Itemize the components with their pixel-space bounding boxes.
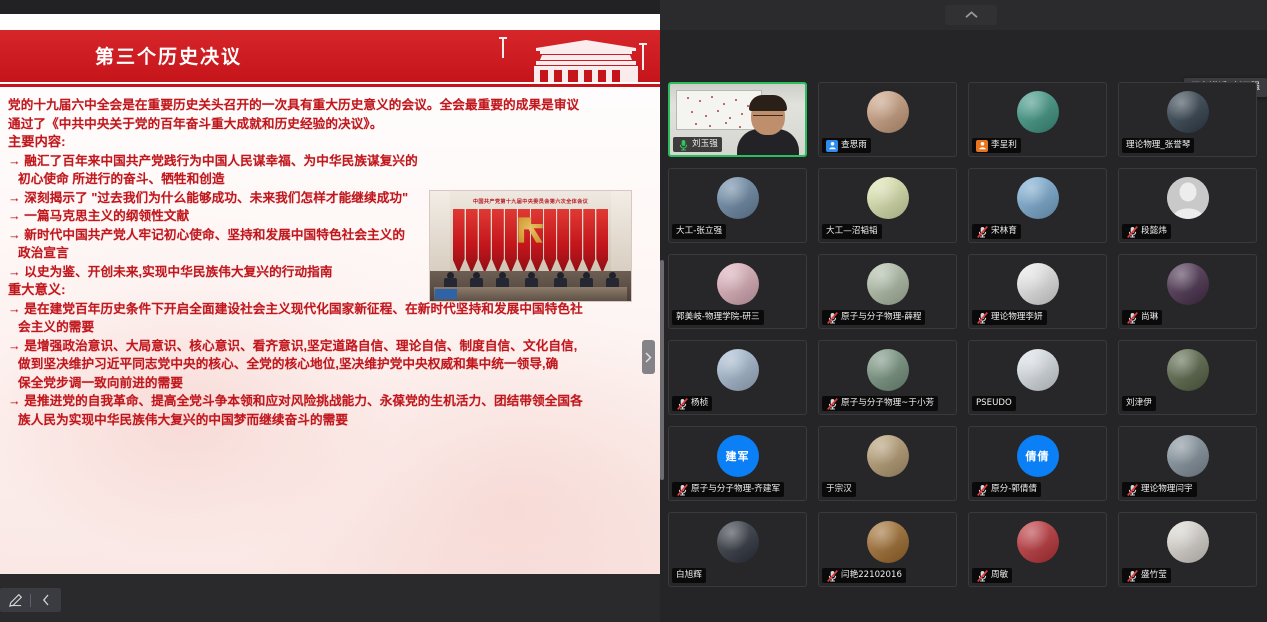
avatar: 倩倩: [1017, 435, 1059, 477]
participant-tile[interactable]: 段懿炜: [1118, 168, 1257, 243]
avatar: [1017, 349, 1059, 391]
participant-name-chip: 原子与分子物理-薛程: [822, 310, 925, 325]
slide-body-line: 党的十九届六中全会是在重要历史关头召开的一次具有重大历史意义的会议。全会最重要的…: [8, 96, 652, 115]
slide-body-line: 初心使命 所进行的奋斗、牺牲和创造: [8, 170, 652, 189]
participant-name-chip: 盛竹莹: [1122, 568, 1171, 583]
whiteboard-mark: [699, 100, 701, 102]
participant-name: 原分-郭倩倩: [991, 482, 1037, 497]
slide-body-line: → 融汇了百年来中国共产党践行为中国人民谋幸福、为中华民族谋复兴的: [8, 152, 652, 171]
avatar: [867, 521, 909, 563]
participant-name: 段懿炜: [1141, 224, 1167, 239]
whiteboard-mark: [725, 122, 727, 124]
cohost-badge-icon: [976, 140, 988, 152]
participant-tile[interactable]: 建军原子与分子物理-齐建军: [668, 426, 807, 501]
participant-name-chip: 白旭辉: [672, 568, 706, 583]
participant-tile[interactable]: 理论物理_张誉琴: [1118, 82, 1257, 157]
slide-body-line: 会主义的需要: [8, 318, 652, 337]
participant-tile[interactable]: 倩倩原分-郭倩倩: [968, 426, 1107, 501]
avatar: 建军: [717, 435, 759, 477]
participant-name-chip: 郭美岐-物理学院-研三: [672, 310, 764, 325]
avatar: [867, 263, 909, 305]
annotate-pen-button[interactable]: [0, 588, 30, 612]
participant-name-chip: 原子与分子物理-齐建军: [672, 482, 784, 497]
participant-name: 尚琳: [1141, 310, 1158, 325]
microphone-off-icon: [1126, 484, 1138, 496]
chevron-left-icon: [42, 594, 50, 606]
avatar: [1017, 263, 1059, 305]
participant-name: PSEUDO: [976, 396, 1012, 411]
slide-header-band: 第三个历史决议: [0, 30, 660, 82]
conference-photo-caption: 中国共产党第十九届中央委员会第六次全体会议: [452, 197, 609, 208]
participant-tile[interactable]: 理论物理闫宇: [1118, 426, 1257, 501]
participant-name-chip: 于宗汉: [822, 482, 856, 497]
avatar: [867, 91, 909, 133]
slide-body-line: 通过了《中共中央关于党的百年奋斗重大成就和历史经验的决议》。: [8, 115, 652, 134]
participant-tile[interactable]: 刘玉强: [668, 82, 807, 157]
participant-tile[interactable]: 理论物理李妍: [968, 254, 1107, 329]
participant-name-chip: 宋林育: [972, 224, 1021, 239]
avatar: [717, 263, 759, 305]
collapse-gallery-button[interactable]: [945, 5, 997, 25]
microphone-off-icon: [976, 484, 988, 496]
participant-name: 原子与分子物理-薛程: [841, 310, 921, 325]
participant-tile[interactable]: 宋林育: [968, 168, 1107, 243]
participant-name: 周敏: [991, 568, 1008, 583]
slide-body-line: 保全党步调一致向前进的需要: [8, 374, 652, 393]
slide-body-line: 做到坚决维护习近平同志党中央的核心、全党的核心地位,坚决维护党中央权威和集中统一…: [8, 355, 652, 374]
participant-name-chip: 理论物理_张誉琴: [1122, 138, 1194, 153]
participant-tile[interactable]: 大工-张立强: [668, 168, 807, 243]
participant-name: 杨桢: [691, 396, 708, 411]
participant-tile[interactable]: 原子与分子物理~于小芳: [818, 340, 957, 415]
screen-share-pane: 第三个历史决议 党的十九届六中全会是在重要历史关头召开的一次具有重大历史意义的会…: [0, 0, 660, 622]
participant-name: 理论物理闫宇: [1141, 482, 1193, 497]
avatar: [1017, 177, 1059, 219]
slide-header-underline: [0, 84, 660, 87]
participant-tile[interactable]: 盛竹莹: [1118, 512, 1257, 587]
previous-slide-button[interactable]: [31, 588, 61, 612]
participant-tile[interactable]: 郭美岐-物理学院-研三: [668, 254, 807, 329]
whiteboard-mark: [705, 115, 707, 117]
whiteboard-mark: [723, 103, 725, 105]
participant-name: 原子与分子物理~于小芳: [841, 396, 934, 411]
participant-name: 白旭辉: [676, 568, 702, 583]
conference-photo: 中国共产党第十九届中央委员会第六次全体会议: [429, 190, 632, 302]
host-badge-icon: [826, 140, 838, 152]
participant-name-chip: PSEUDO: [972, 396, 1016, 411]
participant-tile[interactable]: 原子与分子物理-薛程: [818, 254, 957, 329]
participant-name-chip: 原子与分子物理~于小芳: [822, 396, 938, 411]
participant-name: 刘玉强: [692, 137, 718, 152]
participant-name: 闫艳22102016: [841, 568, 902, 583]
next-slide-tab[interactable]: [642, 340, 655, 374]
slide-body-line: 主要内容:: [8, 133, 652, 152]
participant-name-chip: 杨桢: [672, 396, 712, 411]
microphone-off-icon: [976, 570, 988, 582]
avatar: [717, 521, 759, 563]
gallery-scrollbar[interactable]: [660, 260, 664, 480]
whiteboard-mark: [729, 117, 731, 119]
participant-name-chip: 闫艳22102016: [822, 568, 906, 583]
pen-icon: [8, 593, 23, 608]
stage-area: [430, 271, 631, 301]
participant-tile[interactable]: 李呈利: [968, 82, 1107, 157]
participant-name: 于宗汉: [826, 482, 852, 497]
participant-tile[interactable]: 周敏: [968, 512, 1107, 587]
participant-name: 宋林育: [991, 224, 1017, 239]
avatar: [867, 349, 909, 391]
participant-name-chip: 查思雨: [822, 138, 871, 153]
participant-name: 查思雨: [841, 138, 867, 153]
slide-title: 第三个历史决议: [95, 42, 242, 69]
slide-body-line: → 是在建党百年历史条件下开启全面建设社会主义现代化国家新征程、在新时代坚持和发…: [8, 300, 652, 319]
tile-grid: 刘玉强查思雨李呈利理论物理_张誉琴大工-张立强大工—沼韬韬宋林育段懿炜郭美岐-物…: [668, 82, 1259, 587]
participant-name-chip: 刘玉强: [673, 137, 722, 152]
microphone-off-icon: [1126, 570, 1138, 582]
participant-tile[interactable]: PSEUDO: [968, 340, 1107, 415]
participant-name: 盛竹莹: [1141, 568, 1167, 583]
avatar: [1167, 263, 1209, 305]
participant-name: 刘津伊: [1126, 396, 1152, 411]
participant-tile[interactable]: 闫艳22102016: [818, 512, 957, 587]
participant-name: 理论物理李妍: [991, 310, 1043, 325]
slide-body-line: 族人民为实现中华民族伟大复兴的中国梦而继续奋斗的需要: [8, 411, 652, 430]
speaker-figure: [737, 99, 799, 155]
whiteboard-mark: [687, 97, 689, 99]
participant-tile[interactable]: 大工—沼韬韬: [818, 168, 957, 243]
avatar: [1167, 521, 1209, 563]
microphone-off-icon: [976, 226, 988, 238]
participant-name-chip: 大工—沼韬韬: [822, 224, 882, 239]
microphone-off-icon: [1126, 312, 1138, 324]
whiteboard-mark: [709, 125, 711, 127]
participant-tile[interactable]: 于宗汉: [818, 426, 957, 501]
participant-gallery: 正在讲话: 刘玉强 刘玉强查思雨李呈利理论物理_张誉琴大工-张立强大工—沼韬韬宋…: [660, 0, 1267, 622]
microphone-off-icon: [826, 398, 838, 410]
participant-name-chip: 原分-郭倩倩: [972, 482, 1041, 497]
participant-name-chip: 周敏: [972, 568, 1012, 583]
avatar: [1167, 435, 1209, 477]
participant-tile[interactable]: 尚琳: [1118, 254, 1257, 329]
participant-tile[interactable]: 查思雨: [818, 82, 957, 157]
avatar: [1167, 177, 1209, 219]
microphone-off-icon: [826, 312, 838, 324]
broadcaster-logo: [435, 289, 457, 299]
microphone-off-icon: [676, 484, 688, 496]
shared-slide: 第三个历史决议 党的十九届六中全会是在重要历史关头召开的一次具有重大历史意义的会…: [0, 14, 660, 574]
whiteboard-mark: [695, 123, 697, 125]
avatar: [1017, 91, 1059, 133]
slide-body-line: → 是推进党的自我革命、提高全党斗争本领和应对风险挑战能力、永葆党的生机活力、团…: [8, 392, 652, 411]
whiteboard-mark: [691, 111, 693, 113]
meeting-window: 第三个历史决议 党的十九届六中全会是在重要历史关头召开的一次具有重大历史意义的会…: [0, 0, 1267, 622]
avatar: [1167, 91, 1209, 133]
annotation-toolbar: [0, 588, 61, 612]
avatar: [1167, 349, 1209, 391]
participant-name: 理论物理_张誉琴: [1126, 138, 1190, 153]
participant-name-chip: 大工-张立强: [672, 224, 726, 239]
whiteboard-mark: [717, 110, 719, 112]
participant-tile[interactable]: 刘津伊: [1118, 340, 1257, 415]
participant-name: 原子与分子物理-齐建军: [691, 482, 780, 497]
slide-body: 党的十九届六中全会是在重要历史关头召开的一次具有重大历史意义的会议。全会最重要的…: [0, 96, 660, 566]
microphone-off-icon: [676, 398, 688, 410]
chevron-right-icon: [645, 352, 652, 363]
tiananmen-icon: [490, 34, 650, 82]
share-top-bar: [0, 0, 660, 14]
participant-name-chip: 刘津伊: [1122, 396, 1156, 411]
microphone-off-icon: [1126, 226, 1138, 238]
participant-name-chip: 理论物理闫宇: [1122, 482, 1197, 497]
participant-name: 大工—沼韬韬: [826, 224, 878, 239]
participant-name-chip: 尚琳: [1122, 310, 1162, 325]
slide-body-line: → 是增强政治意识、大局意识、核心意识、看齐意识,坚定道路自信、理论自信、制度自…: [8, 337, 652, 356]
participant-name: 郭美岐-物理学院-研三: [676, 310, 760, 325]
participant-name-chip: 理论物理李妍: [972, 310, 1047, 325]
participant-tile[interactable]: 杨桢: [668, 340, 807, 415]
avatar: [867, 177, 909, 219]
participant-name-chip: 李呈利: [972, 138, 1021, 153]
participant-tile[interactable]: 白旭辉: [668, 512, 807, 587]
avatar: [1017, 521, 1059, 563]
participant-name: 李呈利: [991, 138, 1017, 153]
participant-name-chip: 段懿炜: [1122, 224, 1171, 239]
avatar: [717, 177, 759, 219]
microphone-off-icon: [826, 570, 838, 582]
share-bottom-bar: [0, 574, 660, 622]
microphone-off-icon: [976, 312, 988, 324]
chevron-up-icon: [965, 11, 978, 19]
whiteboard-mark: [711, 96, 713, 98]
avatar: [867, 435, 909, 477]
participant-name: 大工-张立强: [676, 224, 722, 239]
microphone-on-icon: [677, 139, 689, 151]
avatar: [717, 349, 759, 391]
